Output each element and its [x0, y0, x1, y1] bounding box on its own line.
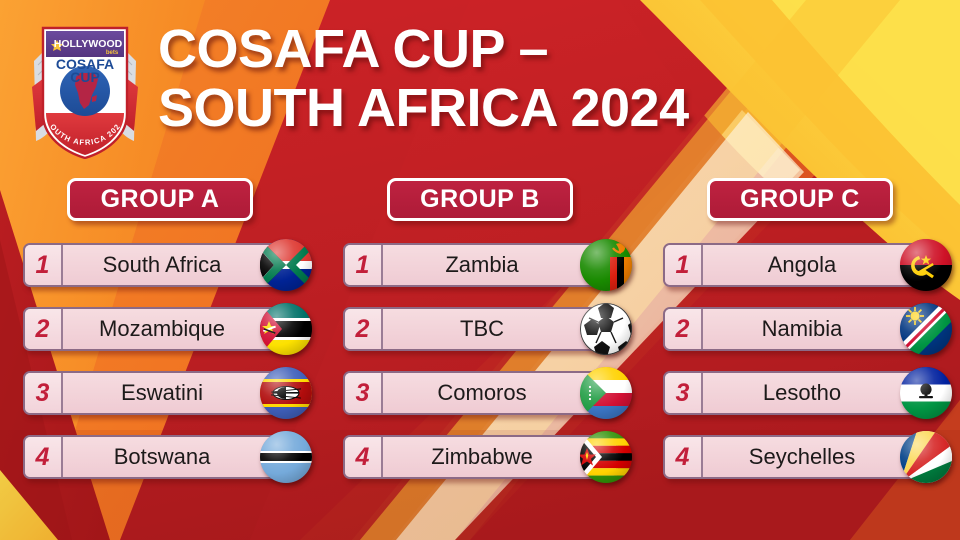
soccer-ball-icon — [580, 303, 632, 355]
team-pill: 3Eswatini — [23, 371, 298, 415]
team-rank: 4 — [25, 437, 63, 477]
mozambique-icon — [260, 303, 312, 355]
group-header-badge: GROUP B — [387, 178, 573, 221]
team-rank: 3 — [665, 373, 703, 413]
team-pill: 2TBC — [343, 307, 618, 351]
logo-sponsor: HOLLYWOOD — [54, 38, 123, 50]
page-title: COSAFA CUP – SOUTH AFRICA 2024 — [158, 22, 798, 135]
team-pill: 4Zimbabwe — [343, 435, 618, 479]
team-row[interactable]: 4Seychelles — [663, 435, 938, 479]
team-pill: 1Angola — [663, 243, 938, 287]
team-rank: 4 — [345, 437, 383, 477]
team-row[interactable]: 1Zambia — [343, 243, 618, 287]
comoros-icon — [580, 367, 632, 419]
angola-icon — [900, 239, 952, 291]
team-pill: 3Comoros — [343, 371, 618, 415]
team-list: 1South Africa 2Mozambique 3Eswatini 4Bo — [0, 243, 320, 479]
title-line-1: COSAFA CUP – — [158, 22, 798, 76]
team-pill: 4Botswana — [23, 435, 298, 479]
team-rank: 1 — [25, 245, 63, 285]
team-rank: 3 — [345, 373, 383, 413]
group-header-badge: GROUP C — [707, 178, 893, 221]
team-rank: 1 — [345, 245, 383, 285]
zimbabwe-icon — [580, 431, 632, 483]
team-row[interactable]: 3Eswatini — [23, 371, 298, 415]
team-row[interactable]: 2Mozambique — [23, 307, 298, 351]
team-row[interactable]: 1Angola — [663, 243, 938, 287]
team-pill: 1South Africa — [23, 243, 298, 287]
botswana-icon — [260, 431, 312, 483]
namibia-icon — [900, 303, 952, 355]
team-list: 1Angola 2Namibia 3Lesotho — [640, 243, 960, 479]
team-pill: 1Zambia — [343, 243, 618, 287]
south-africa-icon — [260, 239, 312, 291]
team-pill: 2Mozambique — [23, 307, 298, 351]
cosafa-cup-logo: HOLLYWOOD bets COSAFA CUP SOUTH AFRICA 2… — [26, 9, 144, 159]
team-rank: 2 — [345, 309, 383, 349]
eswatini-icon — [260, 367, 312, 419]
group-column-group-c: GROUP C1Angola 2Namibia 3Lesotho — [640, 178, 960, 540]
team-rank: 3 — [25, 373, 63, 413]
seychelles-icon — [900, 431, 952, 483]
team-row[interactable]: 3Lesotho — [663, 371, 938, 415]
logo-name-line2: CUP — [70, 69, 100, 85]
team-rank: 4 — [665, 437, 703, 477]
team-rank: 1 — [665, 245, 703, 285]
zambia-icon — [580, 239, 632, 291]
group-column-group-b: GROUP B1Zambia 2TBC 3Comoros — [320, 178, 640, 540]
team-rank: 2 — [25, 309, 63, 349]
team-rank: 2 — [665, 309, 703, 349]
groups-container: GROUP A1South Africa 2Mozambique 3Eswati… — [0, 178, 960, 540]
header: HOLLYWOOD bets COSAFA CUP SOUTH AFRICA 2… — [0, 0, 960, 172]
team-pill: 3Lesotho — [663, 371, 938, 415]
team-row[interactable]: 2Namibia — [663, 307, 938, 351]
team-row[interactable]: 4Botswana — [23, 435, 298, 479]
team-list: 1Zambia 2TBC 3Comoros 4Zi — [320, 243, 640, 479]
lesotho-icon — [900, 367, 952, 419]
team-pill: 2Namibia — [663, 307, 938, 351]
team-row[interactable]: 1South Africa — [23, 243, 298, 287]
group-header-badge: GROUP A — [67, 178, 253, 221]
team-row[interactable]: 2TBC — [343, 307, 618, 351]
team-row[interactable]: 3Comoros — [343, 371, 618, 415]
team-pill: 4Seychelles — [663, 435, 938, 479]
team-row[interactable]: 4Zimbabwe — [343, 435, 618, 479]
group-column-group-a: GROUP A1South Africa 2Mozambique 3Eswati… — [0, 178, 320, 540]
title-line-2: SOUTH AFRICA 2024 — [158, 81, 798, 135]
